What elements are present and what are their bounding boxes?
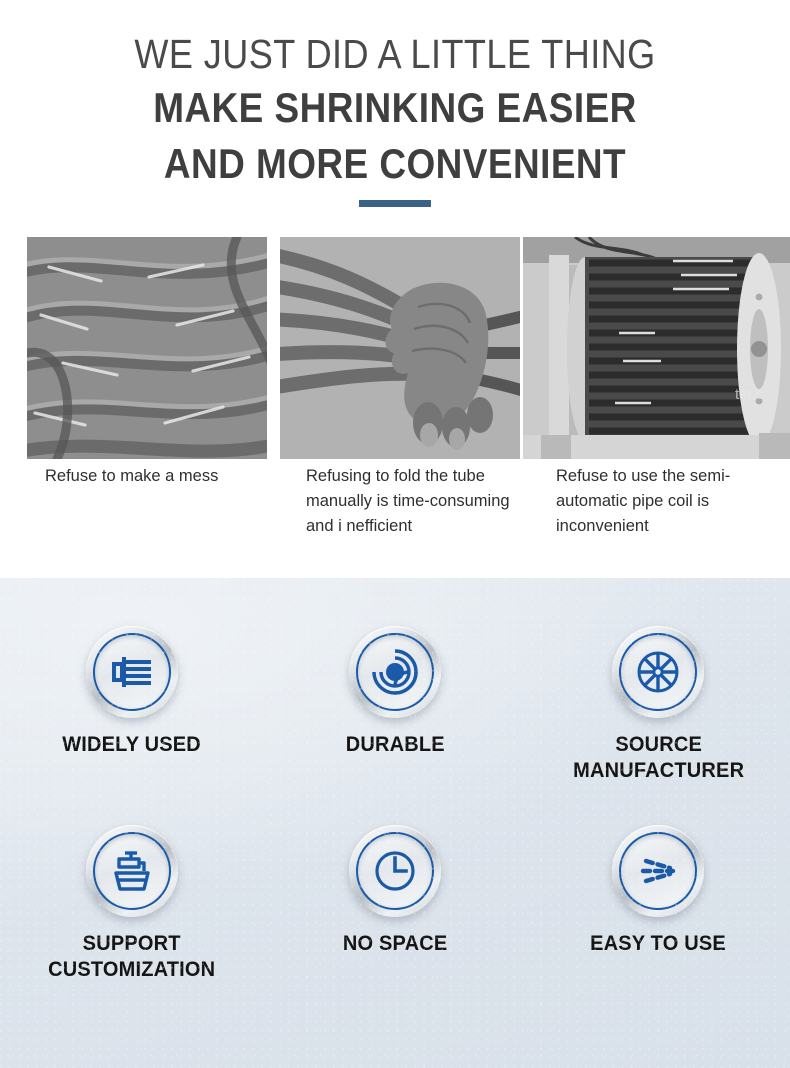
- heading-line-1: WE JUST DID A LITTLE THING: [47, 28, 742, 80]
- feature-item-no-space: NO SPACE: [263, 825, 526, 982]
- promo-page: WE JUST DID A LITTLE THING MAKE SHRINKIN…: [0, 0, 790, 1068]
- feature-badge: [612, 626, 704, 718]
- dashed-lines-icon: [634, 847, 682, 895]
- hero-section: WE JUST DID A LITTLE THING MAKE SHRINKIN…: [0, 0, 790, 578]
- problem-caption-3: Refuse to use the semi-automatic pipe co…: [556, 464, 771, 539]
- problem-caption-2: Refusing to fold the tube manually is ti…: [306, 464, 521, 539]
- tangled-hoses-photo: [27, 237, 267, 459]
- clock-icon: [371, 847, 419, 895]
- hand-folding-tube-photo: [280, 237, 520, 459]
- semi-automatic-pipe-coil-photo: ter.c: [523, 237, 790, 459]
- svg-text:ter.c: ter.c: [735, 386, 764, 403]
- feature-label: NO SPACE: [343, 930, 447, 956]
- problem-photo-row: ter.c: [0, 237, 790, 459]
- spoked-wheel-icon: [634, 648, 682, 696]
- feature-label: WIDELY USED: [62, 731, 201, 757]
- feature-label: EASY TO USE: [590, 930, 726, 956]
- document-lines-icon: [108, 648, 156, 696]
- feature-item-easy-to-use: EASY TO USE: [527, 825, 790, 982]
- feature-item-durable: DURABLE: [263, 626, 526, 783]
- feature-badge: [86, 825, 178, 917]
- features-grid: WIDELY USED DURABLE: [0, 626, 790, 982]
- concentric-circles-icon: [371, 648, 419, 696]
- feature-item-support-customization: SUPPORT CUSTOMIZATION: [0, 825, 263, 982]
- page-title: WE JUST DID A LITTLE THING MAKE SHRINKIN…: [0, 0, 790, 207]
- feature-badge: [349, 825, 441, 917]
- feature-badge: [612, 825, 704, 917]
- heading-line-3: AND MORE CONVENIENT: [47, 136, 742, 192]
- features-section: WIDELY USED DURABLE: [0, 578, 790, 1068]
- heading-line-2: MAKE SHRINKING EASIER: [47, 80, 742, 136]
- feature-badge: [349, 626, 441, 718]
- accent-underline-bar: [359, 200, 431, 207]
- problem-caption-1: Refuse to make a mess: [45, 464, 275, 489]
- feature-item-source-manufacturer: SOURCE MANUFACTURER: [527, 626, 790, 783]
- feature-badge: [86, 626, 178, 718]
- feature-label: SOURCE MANUFACTURER: [536, 731, 781, 783]
- feature-label: DURABLE: [345, 731, 444, 757]
- feature-item-widely-used: WIDELY USED: [0, 626, 263, 783]
- machine-press-icon: [108, 847, 156, 895]
- feature-label: SUPPORT CUSTOMIZATION: [9, 930, 254, 982]
